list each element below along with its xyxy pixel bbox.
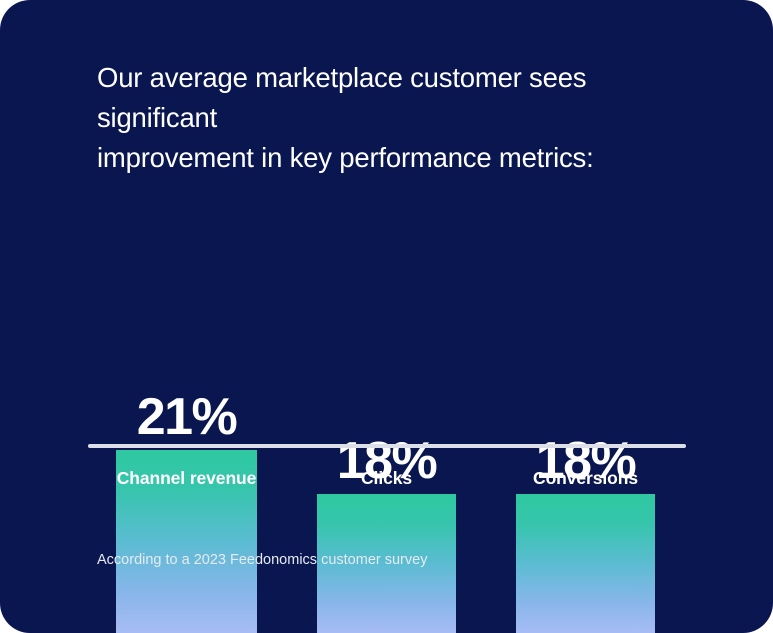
chart-source-note: According to a 2023 Feedonomics customer… [97,551,427,570]
bar-chart: 21% Channel revenue 18% Clicks 18% Conve… [0,0,773,633]
bar-label-clicks: Clicks [317,470,456,488]
axis-baseline [88,444,686,448]
stat-card: Our average marketplace customer sees si… [0,0,773,633]
bar-label-conversions: Conversions [516,470,655,488]
bar-group-clicks: 18% [317,350,456,633]
bar-group-channel-revenue: 21% [116,350,257,633]
bar-conversions [516,494,655,633]
bar-label-channel-revenue: Channel revenue [116,470,257,488]
bar-value-channel-revenue: 21% [116,391,257,443]
bar-group-conversions: 18% [516,350,655,633]
